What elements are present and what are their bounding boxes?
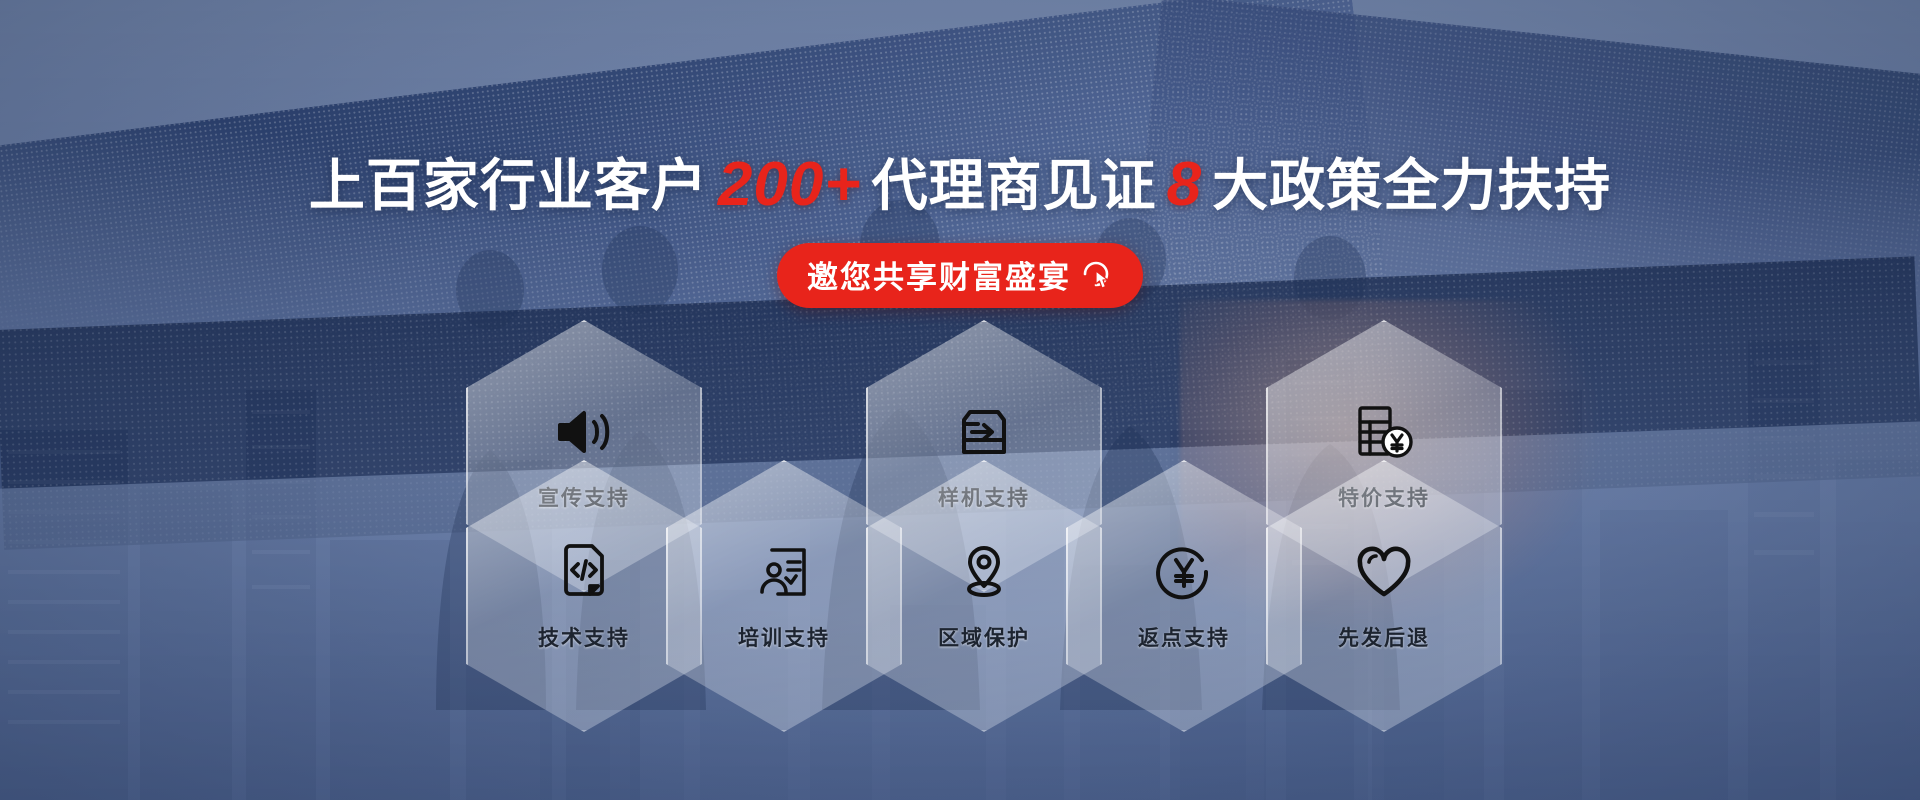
code-document-icon <box>552 540 616 604</box>
calculator-yen-icon <box>1352 400 1416 464</box>
feature-label: 区域保护 <box>938 622 1030 652</box>
heart-icon <box>1352 540 1416 604</box>
feature-label: 培训支持 <box>738 622 830 652</box>
yen-circle-icon <box>1152 540 1216 604</box>
feature-label: 先发后退 <box>1338 622 1430 652</box>
feature-label: 技术支持 <box>538 622 630 652</box>
feature-label: 返点支持 <box>1138 622 1230 652</box>
map-pin-icon <box>952 540 1016 604</box>
megaphone-icon <box>552 400 616 464</box>
feature-hex-grid: 宣传支持 样机支持 特价支持 <box>0 0 1920 800</box>
box-arrow-in-icon <box>952 400 1016 464</box>
id-card-person-icon <box>752 540 816 604</box>
promo-banner: 上百家行业客户200+代理商见证8大政策全力扶持 邀您共享财富盛宴 <box>0 0 1920 800</box>
